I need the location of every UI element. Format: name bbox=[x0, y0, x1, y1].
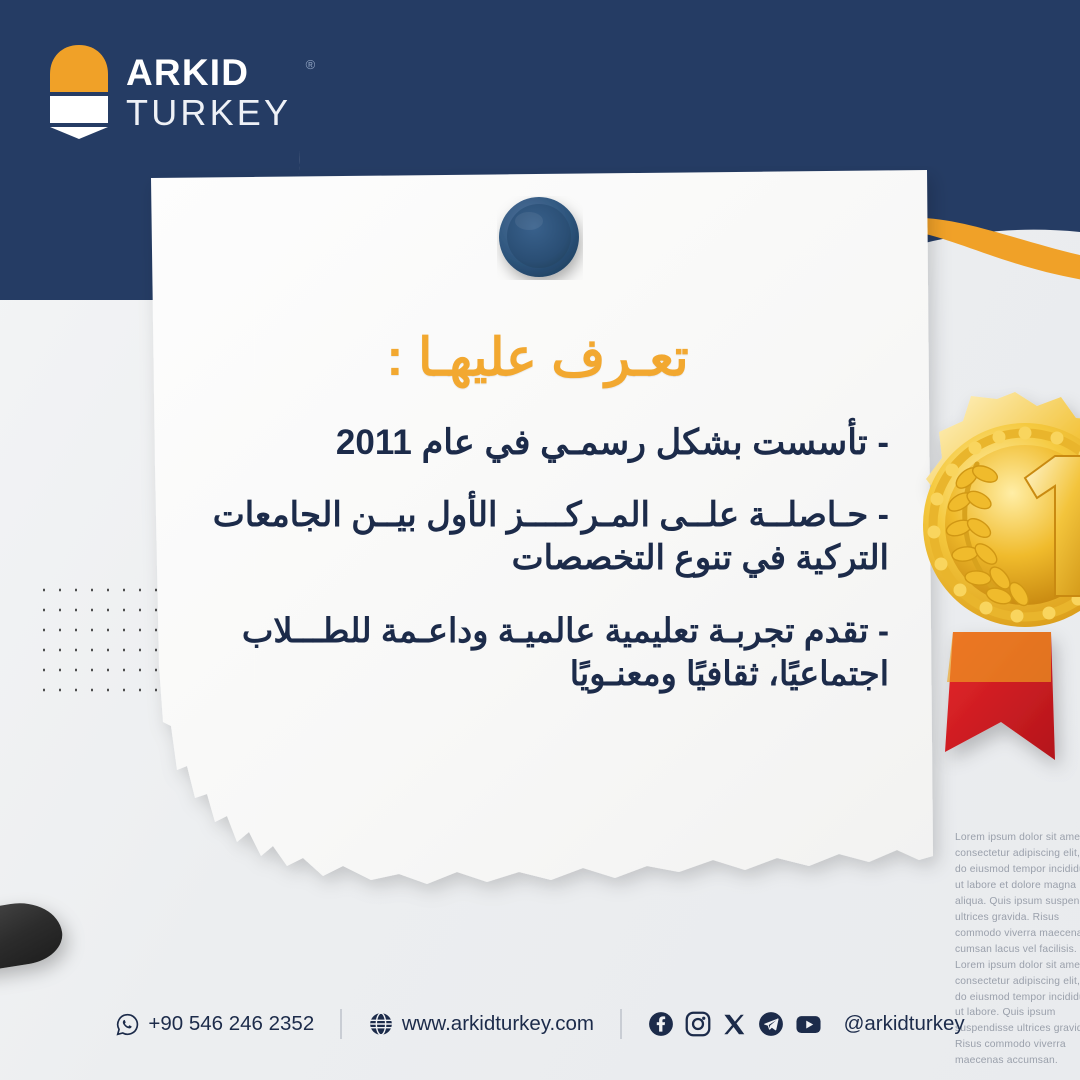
footer-contact-bar: +90 546 246 2352 www.arkidturkey.com bbox=[0, 1000, 1080, 1048]
gold-medal-first-place-icon bbox=[905, 382, 1080, 782]
arkid-shield-logo-icon bbox=[48, 44, 110, 140]
globe-icon bbox=[368, 1011, 394, 1037]
whatsapp-icon bbox=[115, 1012, 140, 1037]
footer-website[interactable]: www.arkidturkey.com bbox=[368, 1011, 594, 1037]
poster-canvas: ARKID TURKEY ® تعـرف عليهـا : - تأس bbox=[0, 0, 1080, 1080]
registered-mark: ® bbox=[306, 58, 316, 71]
logo-name-line1: ARKID bbox=[126, 54, 291, 91]
logo-name-line2: TURKEY bbox=[126, 95, 291, 131]
footer-phone-label: +90 546 246 2352 bbox=[148, 1012, 314, 1036]
paper-note: تعـرف عليهـا : - تأسست بشكل رسمـي في عام… bbox=[149, 176, 926, 906]
footer-social-handle: @arkidturkey bbox=[844, 1012, 965, 1036]
list-item: - تقدم تجربـة تعليمية عالميـة وداعـمة لل… bbox=[189, 611, 889, 697]
note-bullet-list: - تأسست بشكل رسمـي في عام 2011 - حـاصلــ… bbox=[189, 421, 889, 715]
computer-mouse-icon bbox=[0, 897, 66, 975]
blue-push-pin-icon bbox=[497, 196, 583, 280]
youtube-icon[interactable] bbox=[795, 1011, 822, 1038]
footer-phone[interactable]: +90 546 246 2352 bbox=[115, 1012, 314, 1037]
x-twitter-icon[interactable] bbox=[722, 1012, 747, 1037]
brand-logo[interactable]: ARKID TURKEY ® bbox=[48, 44, 291, 140]
footer-social-links: @arkidturkey bbox=[648, 1011, 965, 1038]
list-item: - حـاصلــة علــى المـركــــز الأول بيــن… bbox=[189, 494, 889, 581]
footer-website-label: www.arkidturkey.com bbox=[402, 1012, 594, 1036]
footer-divider-1 bbox=[340, 1009, 342, 1039]
telegram-icon[interactable] bbox=[758, 1011, 784, 1037]
footer-divider-2 bbox=[620, 1009, 622, 1039]
instagram-icon[interactable] bbox=[685, 1011, 711, 1037]
note-heading: تعـرف عليهـا : bbox=[149, 328, 926, 388]
list-item: - تأسست بشكل رسمـي في عام 2011 bbox=[189, 421, 889, 466]
facebook-icon[interactable] bbox=[648, 1011, 674, 1037]
